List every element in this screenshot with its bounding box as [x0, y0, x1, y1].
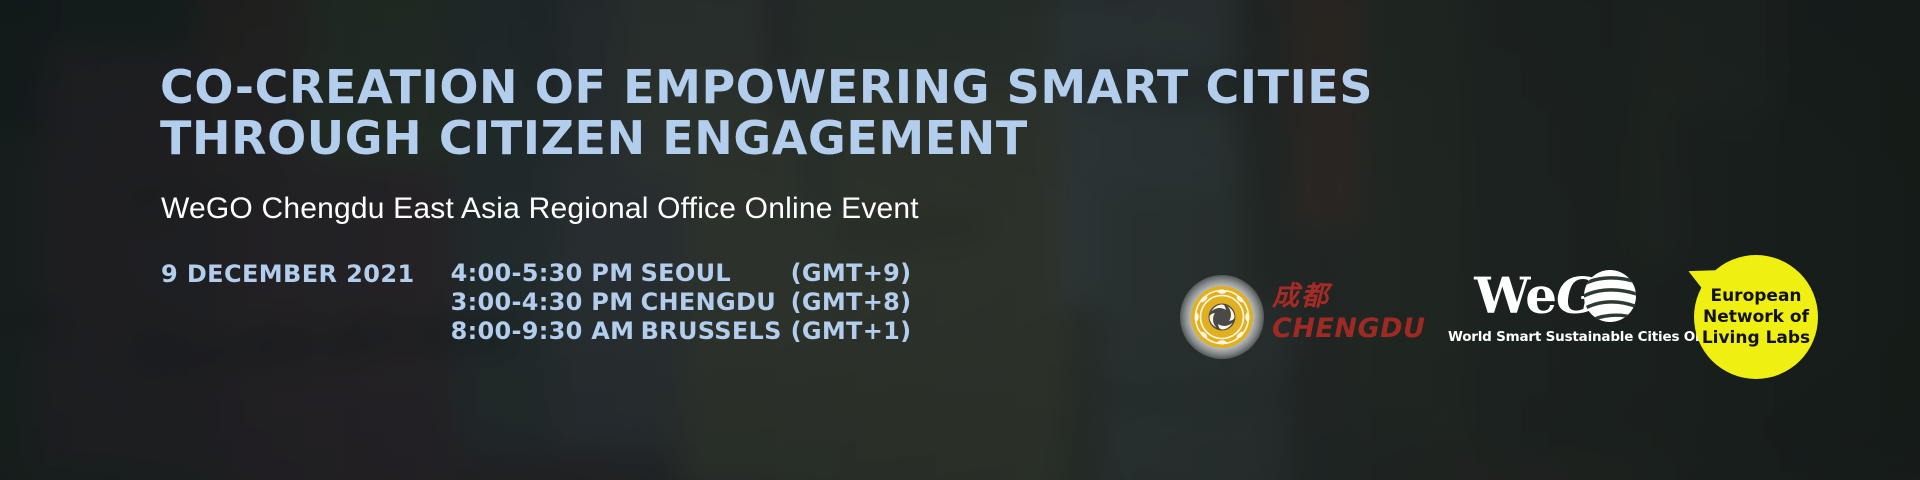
schedule-city: CHENGDU — [641, 288, 791, 317]
chengdu-chinese-text: 成都 — [1272, 282, 1420, 312]
page-title: CO-CREATION OF EMPOWERING SMART CITIES T… — [160, 62, 1373, 164]
wego-logo: WeG Wo — [1448, 267, 1664, 367]
schedule-timezone: (GMT+1) — [791, 317, 921, 346]
wego-tagline: World Smart Sustainable Cities Organizat… — [1448, 329, 1664, 345]
wego-mark: WeG — [1448, 267, 1664, 325]
event-datetime-block: 9 DECEMBER 2021 4:00-5:30 PM SEOUL (GMT+… — [161, 259, 921, 346]
chengdu-sun-immortal-birds-emblem — [1180, 275, 1264, 359]
schedule-city: BRUSSELS — [641, 317, 791, 346]
schedule-time: 4:00-5:30 PM — [451, 259, 641, 288]
schedule-row: 8:00-9:30 AM BRUSSELS (GMT+1) — [451, 317, 921, 346]
schedule-row: 4:00-5:30 PM SEOUL (GMT+9) — [451, 259, 921, 288]
schedule-timezone: (GMT+8) — [791, 288, 921, 317]
event-banner: RESOURCE TEAM Profit ALLOCATION ASSET Pr… — [0, 0, 1920, 480]
schedule-timezone: (GMT+9) — [791, 259, 921, 288]
chengdu-logo: 成都 CHENGDU — [1180, 264, 1420, 370]
page-subtitle: WeGO Chengdu East Asia Regional Office O… — [161, 192, 919, 226]
timezone-schedule: 4:00-5:30 PM SEOUL (GMT+9) 3:00-4:30 PM … — [451, 259, 921, 346]
enoll-line-3: Living Labs — [1702, 328, 1810, 349]
chengdu-english-text: CHENGDU — [1272, 314, 1420, 344]
wego-we-text: We — [1474, 266, 1556, 325]
striped-globe-icon — [1582, 268, 1638, 324]
schedule-time: 8:00-9:30 AM — [451, 317, 641, 346]
enoll-line-1: European — [1710, 286, 1801, 307]
enoll-line-2: Network of — [1703, 307, 1809, 328]
event-date: 9 DECEMBER 2021 — [161, 259, 415, 289]
schedule-row: 3:00-4:30 PM CHENGDU (GMT+8) — [451, 288, 921, 317]
chengdu-wordmark: 成都 CHENGDU — [1272, 282, 1420, 344]
sun-bird-icon — [1190, 285, 1254, 349]
schedule-city: SEOUL — [641, 259, 791, 288]
title-line-1: CO-CREATION OF EMPOWERING SMART CITIES — [160, 62, 1373, 113]
title-line-2: THROUGH CITIZEN ENGAGEMENT — [160, 113, 1373, 164]
schedule-time: 3:00-4:30 PM — [451, 288, 641, 317]
wego-wordmark: WeG — [1474, 270, 1598, 322]
partner-logos: 成都 CHENGDU WeG — [1180, 252, 1840, 382]
banner-content: CO-CREATION OF EMPOWERING SMART CITIES T… — [0, 0, 1920, 480]
enoll-text: European Network of Living Labs — [1694, 255, 1818, 379]
enoll-logo: European Network of Living Labs — [1694, 255, 1818, 379]
